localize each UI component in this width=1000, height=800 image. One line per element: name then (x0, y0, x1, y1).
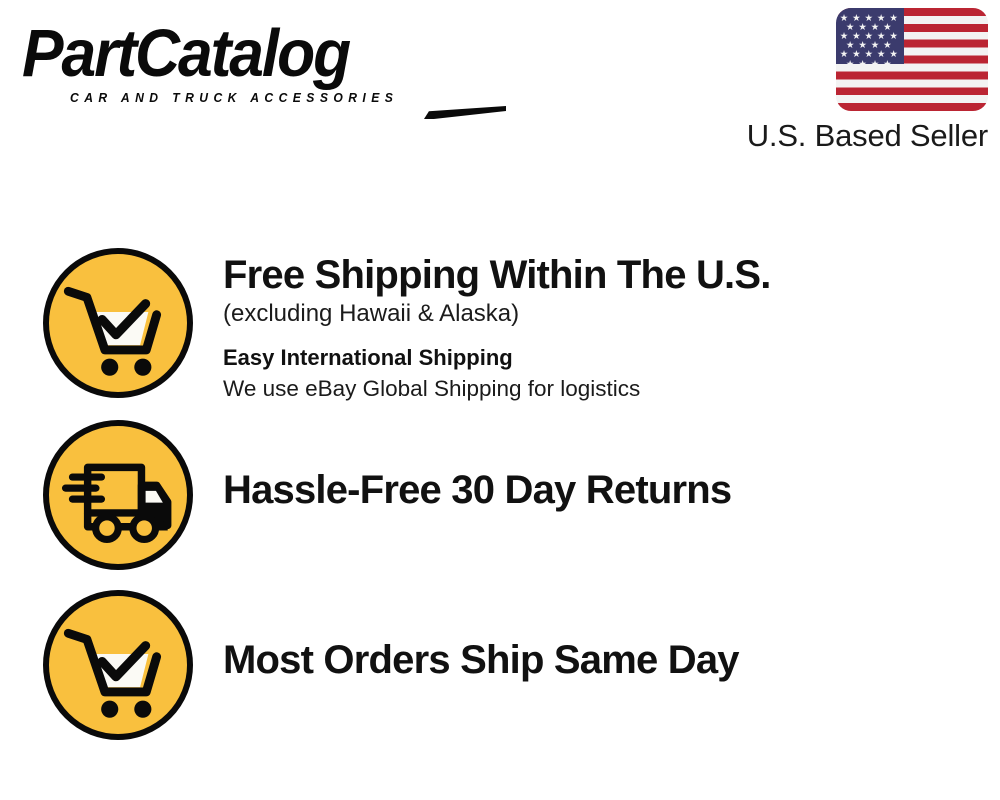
feature-text-group: Most Orders Ship Same Day (223, 590, 739, 683)
feature-subtitle: (excluding Hawaii & Alaska) (223, 298, 771, 330)
flag-stars: ★★★★★★★★★★★★★★★★★★★★★★★★★★★ (836, 8, 904, 64)
feature-title: Hassle-Free 30 Day Returns (223, 467, 731, 513)
delivery-truck-icon (43, 420, 193, 570)
feature-title: Most Orders Ship Same Day (223, 637, 739, 683)
feature-free-shipping: Free Shipping Within The U.S. (excluding… (43, 248, 771, 404)
shopping-cart-check-icon (43, 590, 193, 740)
feature-note: We use eBay Global Shipping for logistic… (223, 373, 771, 404)
feature-returns: Hassle-Free 30 Day Returns (43, 420, 731, 570)
feature-title: Free Shipping Within The U.S. (223, 252, 771, 298)
brand-wordmark: PartCatalog (22, 18, 459, 90)
us-flag-icon: ★★★★★★★★★★★★★★★★★★★★★★★★★★★ (836, 8, 988, 111)
flag-star: ★ (845, 60, 855, 70)
feature-same-day-shipping: Most Orders Ship Same Day (43, 590, 739, 740)
promo-banner: PartCatalog CAR AND TRUCK ACCESSORIES ★★… (0, 0, 1000, 800)
brand-tagline: CAR AND TRUCK ACCESSORIES (70, 91, 479, 105)
flag-star: ★ (882, 60, 892, 70)
feature-text-group: Hassle-Free 30 Day Returns (223, 420, 731, 513)
shopping-cart-check-icon (43, 248, 193, 398)
us-based-seller-badge: ★★★★★★★★★★★★★★★★★★★★★★★★★★★ U.S. Based S… (718, 8, 988, 154)
feature-text-group: Free Shipping Within The U.S. (excluding… (223, 248, 771, 404)
flag-star: ★ (858, 60, 868, 70)
logo-swoosh-decoration (424, 106, 506, 119)
feature-subhead: Easy International Shipping (223, 343, 771, 373)
flag-star: ★ (870, 60, 880, 70)
seller-label: U.S. Based Seller (718, 118, 988, 154)
brand-logo[interactable]: PartCatalog CAR AND TRUCK ACCESSORIES (22, 18, 492, 118)
